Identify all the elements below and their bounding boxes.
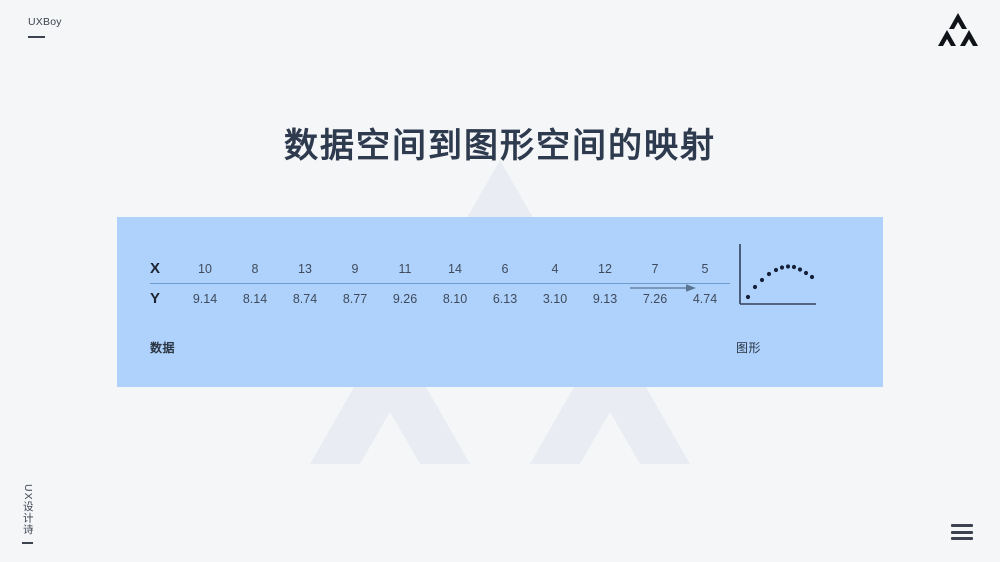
cell-y-1: 8.14 bbox=[230, 284, 280, 314]
hamburger-menu-icon[interactable] bbox=[951, 524, 973, 540]
cell-x-3: 9 bbox=[330, 254, 380, 284]
cell-x-1: 8 bbox=[230, 254, 280, 284]
chart-caption: 图形 bbox=[736, 339, 761, 356]
cell-y-0: 9.14 bbox=[180, 284, 230, 314]
data-caption: 数据 bbox=[150, 339, 175, 356]
cell-y-8: 9.13 bbox=[580, 284, 630, 314]
menu-line-3 bbox=[951, 537, 973, 540]
cell-x-4: 11 bbox=[380, 254, 430, 284]
cell-y-5: 8.10 bbox=[430, 284, 480, 314]
cell-y-6: 6.13 bbox=[480, 284, 530, 314]
cell-x-9: 7 bbox=[630, 254, 680, 284]
brand: UXBoy bbox=[28, 17, 62, 38]
page-title: 数据空间到图形空间的映射 bbox=[0, 118, 1000, 167]
menu-line-1 bbox=[951, 524, 973, 527]
footer-vertical-label: UX设计诗 bbox=[22, 484, 33, 544]
cell-y-4: 9.26 bbox=[380, 284, 430, 314]
cell-y-7: 3.10 bbox=[530, 284, 580, 314]
mapping-panel: X 10 8 13 9 11 14 6 4 12 7 5 Y 9.14 8.14… bbox=[117, 217, 883, 387]
triangle-trio-logo-icon bbox=[938, 11, 978, 49]
table-row: X 10 8 13 9 11 14 6 4 12 7 5 bbox=[150, 254, 730, 284]
cell-x-5: 14 bbox=[430, 254, 480, 284]
row-label-y: Y bbox=[150, 284, 180, 314]
cell-x-7: 4 bbox=[530, 254, 580, 284]
cell-y-2: 8.74 bbox=[280, 284, 330, 314]
cell-x-10: 5 bbox=[680, 254, 730, 284]
brand-name: UXBoy bbox=[28, 17, 62, 29]
cell-y-3: 8.77 bbox=[330, 284, 380, 314]
footer-vertical-label-text: UX设计诗 bbox=[22, 484, 33, 535]
brand-underline bbox=[28, 36, 45, 38]
footer-underline bbox=[22, 542, 33, 544]
cell-x-6: 6 bbox=[480, 254, 530, 284]
cell-x-0: 10 bbox=[180, 254, 230, 284]
row-label-x: X bbox=[150, 254, 180, 284]
cell-x-2: 13 bbox=[280, 254, 330, 284]
mini-scatter-chart bbox=[736, 242, 822, 314]
cell-x-8: 12 bbox=[580, 254, 630, 284]
menu-line-2 bbox=[951, 531, 973, 534]
arrow-right-icon bbox=[630, 281, 696, 295]
